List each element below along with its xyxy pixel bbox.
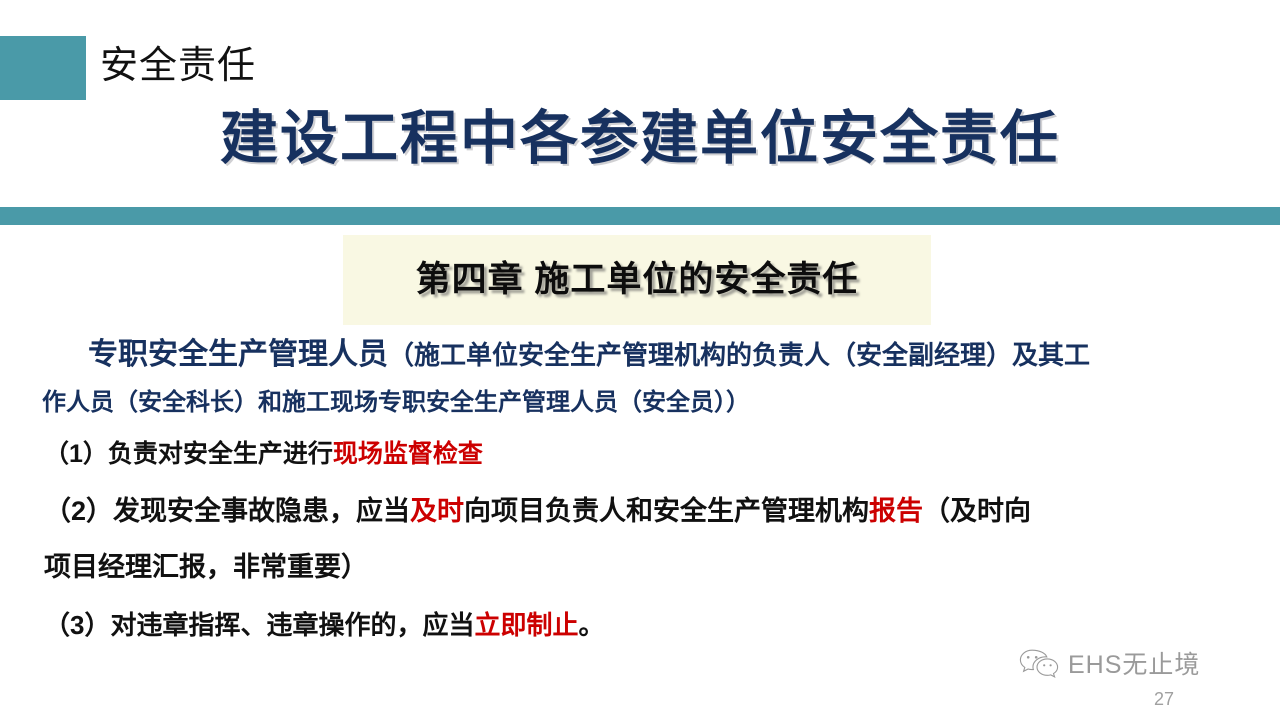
item-1-highlight: 现场监督检查 bbox=[333, 440, 483, 468]
body-line-item-2: （2）发现安全事故隐患，应当及时向项目负责人和安全生产管理机构报告（及时向 bbox=[44, 492, 1031, 530]
item-2-text-a: （2）发现安全事故隐患，应当 bbox=[44, 496, 410, 526]
item-1-text: （1）负责对安全生产进行 bbox=[44, 440, 333, 468]
body-line-item-1: （1）负责对安全生产进行现场监督检查 bbox=[44, 436, 483, 472]
item-2-text-c: （及时向 bbox=[923, 496, 1031, 526]
item-3-text-end: 。 bbox=[578, 610, 604, 640]
body-line-item-2-continued: 项目经理汇报，非常重要） bbox=[44, 548, 368, 586]
slide-canvas: 安全责任 建设工程中各参建单位安全责任 第四章 施工单位的安全责任 专职安全生产… bbox=[0, 0, 1280, 720]
header-kicker: 安全责任 bbox=[100, 38, 256, 94]
header-accent-block bbox=[0, 36, 86, 100]
chapter-banner-label: 第四章 施工单位的安全责任 bbox=[416, 258, 859, 302]
header-divider-rule bbox=[0, 207, 1280, 225]
body-line-definition-2: 作人员（安全科长）和施工现场专职安全生产管理人员（安全员）） bbox=[42, 385, 750, 421]
body-line-item-3: （3）对违章指挥、违章操作的，应当立即制止。 bbox=[44, 606, 605, 644]
item-2-text-b: 向项目负责人和安全生产管理机构 bbox=[464, 496, 869, 526]
definition-detail-part1: （施工单位安全生产管理机构的负责人（安全副经理）及其工 bbox=[388, 340, 1090, 370]
item-2-highlight-a: 及时 bbox=[410, 496, 464, 526]
page-title: 建设工程中各参建单位安全责任 bbox=[0, 103, 1280, 175]
watermark: EHS无止境 bbox=[1018, 648, 1200, 682]
item-3-highlight: 立即制止 bbox=[474, 610, 578, 640]
chapter-banner: 第四章 施工单位的安全责任 bbox=[343, 235, 931, 325]
body-line-definition-1: 专职安全生产管理人员（施工单位安全生产管理机构的负责人（安全副经理）及其工 bbox=[88, 336, 1090, 374]
item-2-highlight-b: 报告 bbox=[869, 496, 923, 526]
page-number: 27 bbox=[1154, 688, 1174, 710]
item-3-text: （3）对违章指挥、违章操作的，应当 bbox=[44, 610, 474, 640]
definition-term: 专职安全生产管理人员 bbox=[88, 338, 388, 371]
wechat-icon bbox=[1018, 648, 1060, 682]
watermark-label: EHS无止境 bbox=[1068, 650, 1200, 680]
